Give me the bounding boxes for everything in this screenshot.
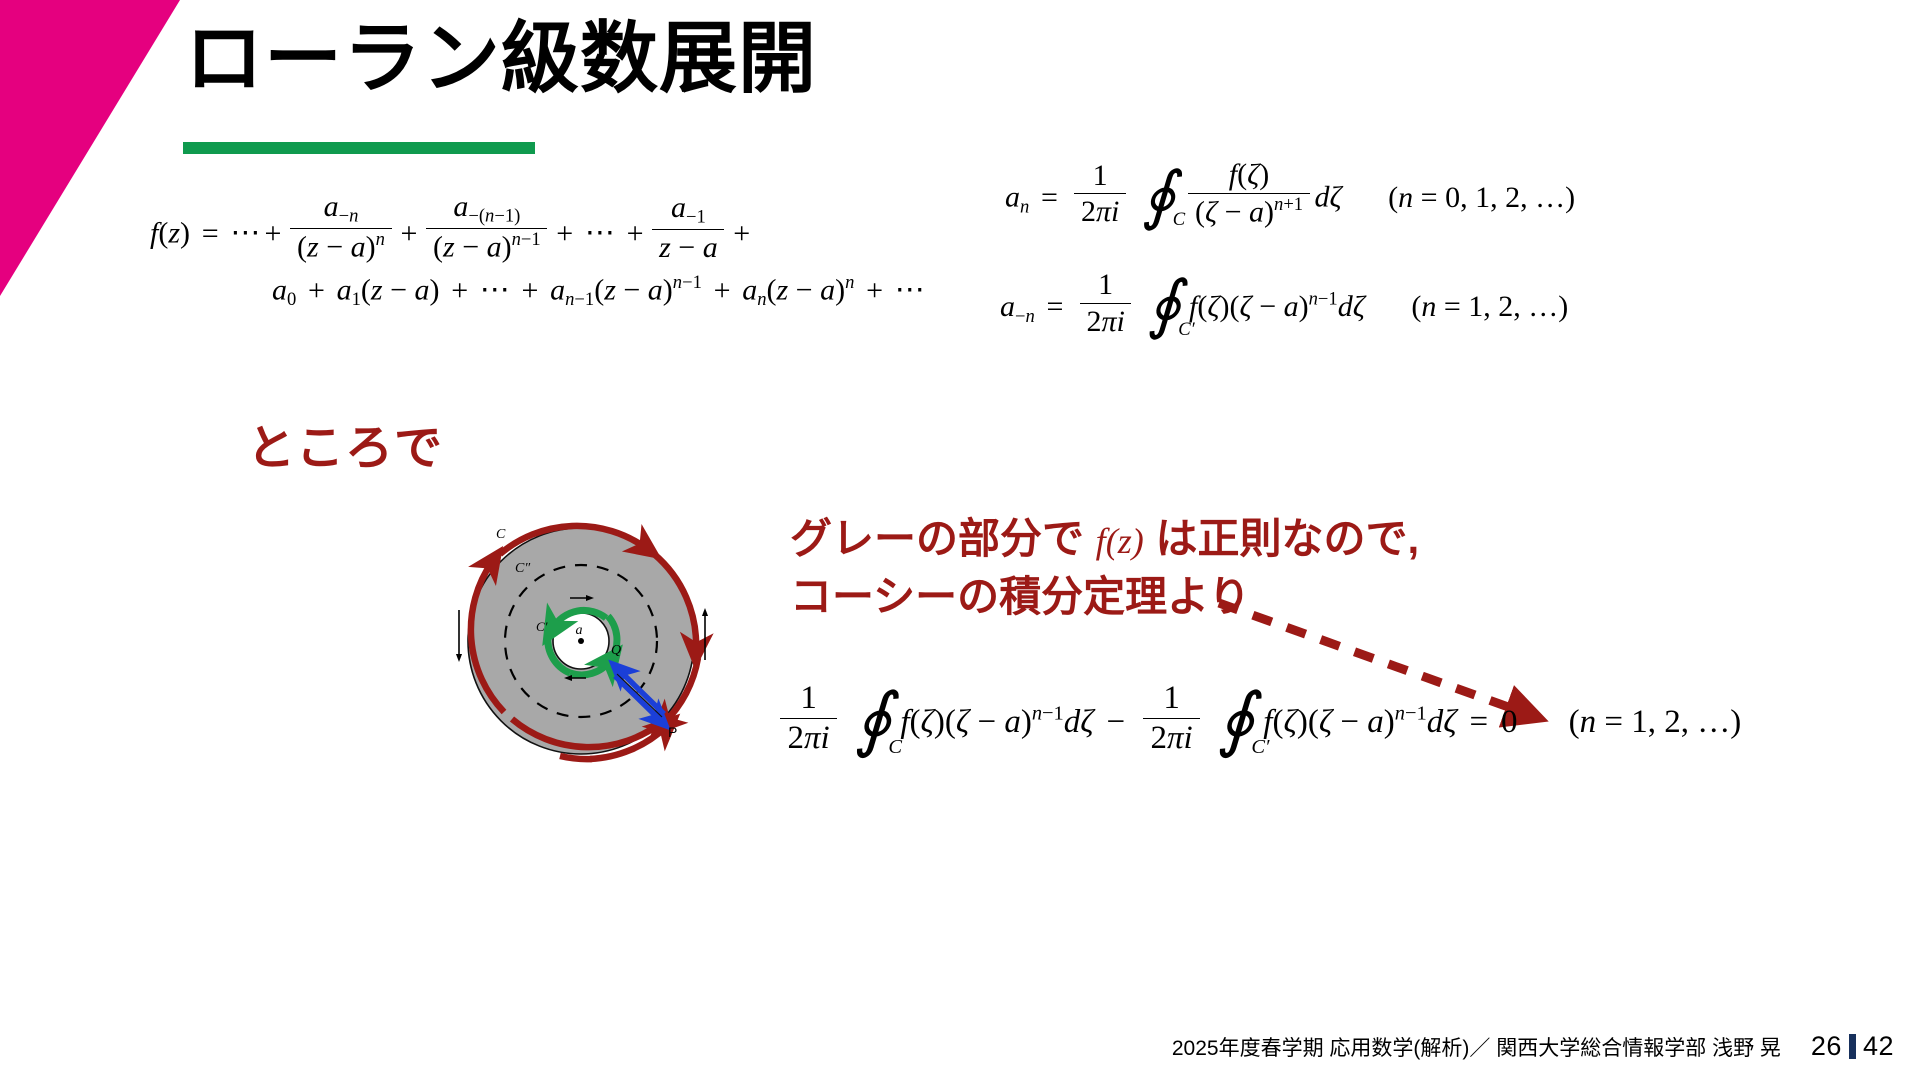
page-indicator: 26 42: [1811, 1031, 1894, 1062]
slide-root: ローラン級数展開 f(z) = ⋯+a−n(z − a)n+a−(n−1)(z …: [0, 0, 1920, 1080]
footer-course-text: 2025年度春学期 応用数学(解析)／ 関西大学総合情報学部 浅野 晃: [1172, 1032, 1781, 1062]
note-line1-pre: グレーの部分で: [790, 515, 1096, 562]
annotation-note-line1: グレーの部分で f(z) は正則なので,: [790, 510, 1419, 568]
annotation-note-line2: コーシーの積分定理より: [790, 568, 1419, 626]
label-contour-C-double-prime: C″: [515, 561, 530, 576]
equation-an-coefficient: an = 12πi ∮C f(ζ)(ζ − a)n+1dζ (n = 0, 1,…: [1005, 158, 1575, 229]
label-contour-C-prime: C′: [536, 619, 548, 634]
slide-footer: 2025年度春学期 応用数学(解析)／ 関西大学総合情報学部 浅野 晃 26 4…: [1172, 1031, 1894, 1062]
page-title: ローラン級数展開: [185, 18, 817, 100]
page-current: 26: [1811, 1031, 1842, 1062]
page-separator-bar: [1849, 1034, 1856, 1059]
equation-laurent-line2: a0 + a1(z − a) + ⋯ + an−1(z − a)n−1 + an…: [272, 272, 925, 311]
page-total: 42: [1863, 1031, 1894, 1062]
note-line1-post: は正則なので,: [1144, 515, 1419, 562]
note-line1-fz: f(z): [1096, 521, 1144, 561]
equation-cauchy-result: 12πi ∮C f(ζ)(ζ − a)n−1dζ − 12πi ∮C′ f(ζ)…: [775, 680, 1741, 757]
equation-laurent-line1: f(z) = ⋯+a−n(z − a)n+a−(n−1)(z − a)n−1+ …: [150, 190, 754, 265]
annotation-tokorode: ところで: [247, 408, 443, 478]
label-point-Q: Q: [611, 643, 621, 658]
equation-a-minus-n-coefficient: a−n = 12πi ∮C′ f(ζ)(ζ − a)n−1dζ (n = 1, …: [1000, 268, 1568, 338]
label-center-a: a: [576, 623, 583, 638]
center-point-marker: [578, 638, 584, 644]
annulus-contour-diagram: a C C″ C′ Q P: [440, 500, 720, 780]
label-point-P: P: [668, 724, 677, 740]
label-contour-C: C: [496, 527, 506, 542]
annotation-note: グレーの部分で f(z) は正則なので, コーシーの積分定理より: [790, 510, 1419, 626]
title-underline-rule: [183, 142, 535, 154]
